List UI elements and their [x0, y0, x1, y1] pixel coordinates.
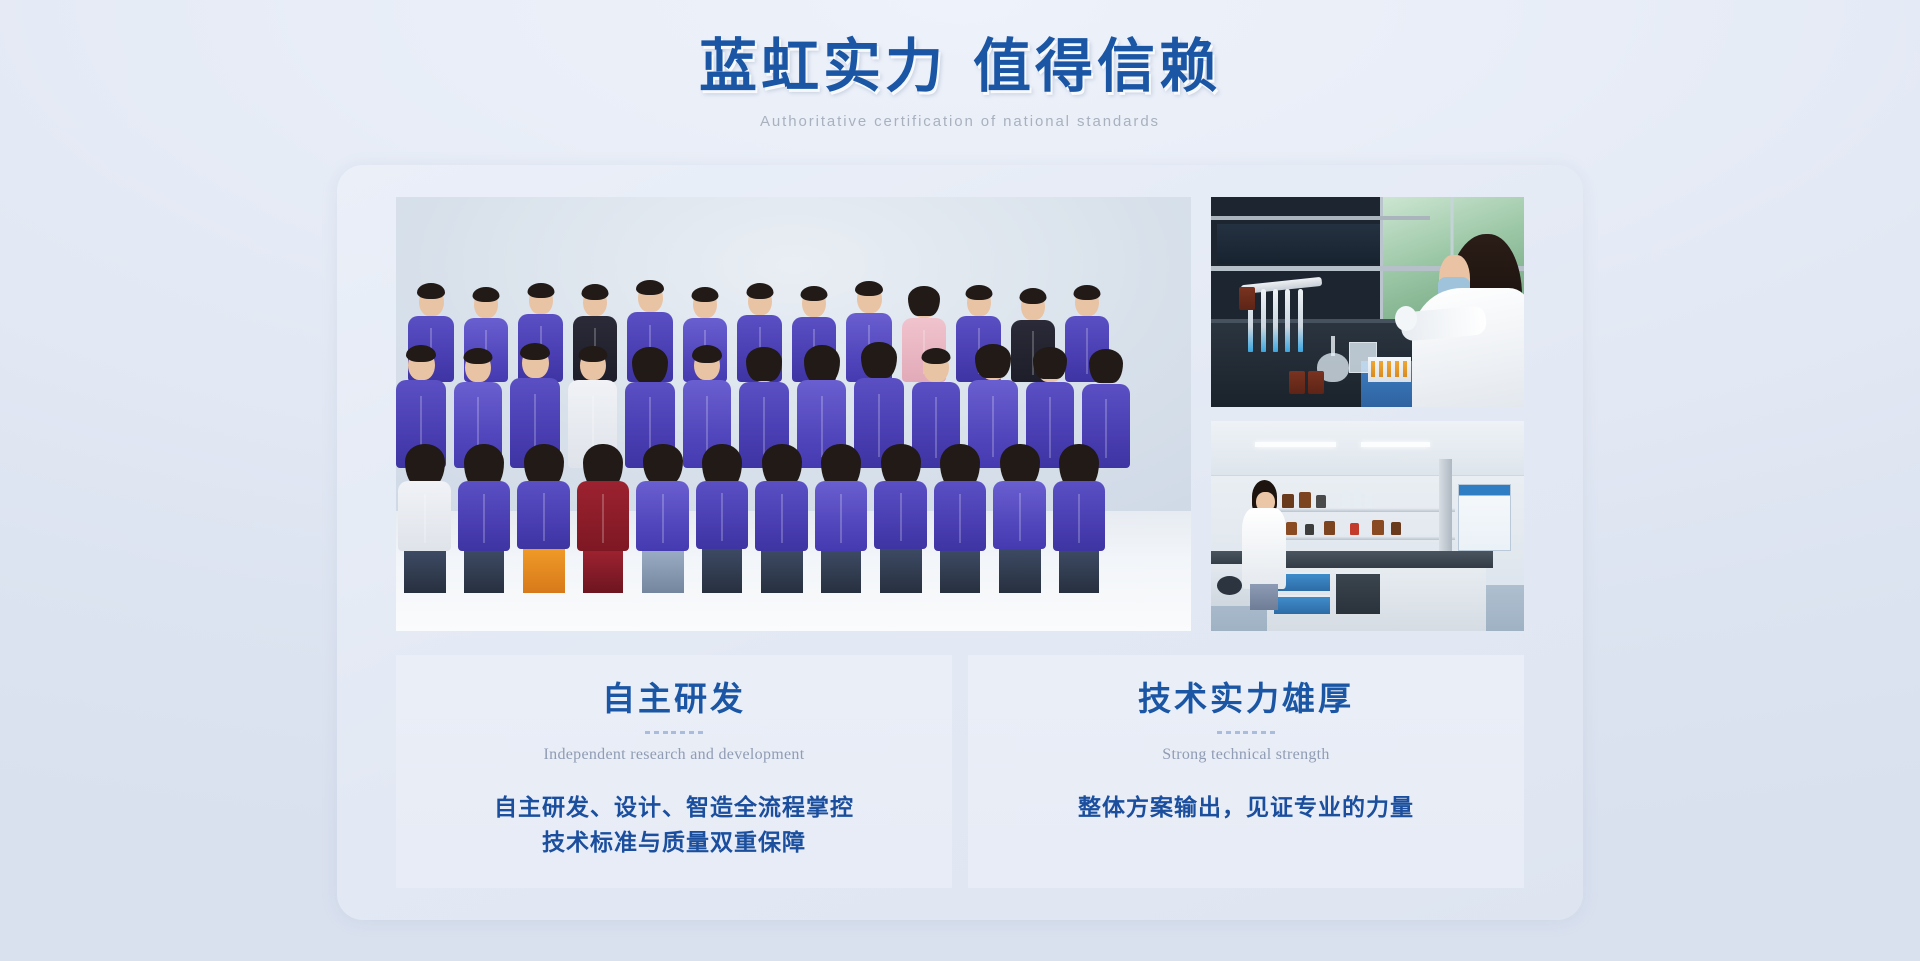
divider-dash	[654, 731, 659, 734]
card-subtitle: Independent research and development	[396, 746, 952, 764]
group-photo-illustration	[396, 197, 1191, 631]
person	[636, 449, 689, 593]
divider-dash	[1261, 731, 1266, 734]
person	[874, 449, 927, 593]
divider-dash	[698, 731, 703, 734]
reagent-bottle	[1299, 492, 1310, 508]
person	[934, 449, 986, 593]
page-header: 蓝虹实力值得信赖 Authoritative certification of …	[0, 34, 1920, 130]
pipette	[1273, 289, 1278, 352]
graduated-cylinder	[1342, 489, 1350, 508]
person	[755, 449, 808, 593]
reagent-bottle	[1305, 524, 1314, 535]
scientist-jeans	[1250, 584, 1278, 610]
page-title: 蓝虹实力值得信赖	[0, 34, 1920, 101]
card-description: 整体方案输出，见证专业的力量	[968, 790, 1524, 826]
pipette	[1285, 289, 1290, 352]
safety-poster	[1458, 484, 1511, 551]
person	[517, 449, 570, 593]
reagent-bottle	[1391, 522, 1400, 535]
reagent-bottle	[1316, 495, 1325, 508]
divider-dash	[645, 731, 650, 734]
reagent-shelf-unit	[1267, 484, 1455, 539]
reagent-bottle	[1289, 371, 1305, 394]
pipette	[1298, 289, 1303, 352]
feature-cards: 自主研发 Independent research and developmen…	[396, 655, 1524, 888]
team-group-photo	[396, 197, 1191, 631]
graduated-cylinder	[1354, 487, 1362, 508]
sample-vial	[1371, 361, 1375, 377]
ceiling-light	[1361, 442, 1430, 447]
sample-vial	[1379, 361, 1383, 377]
card-description-line2: 技术标准与质量双重保障	[396, 825, 952, 861]
card-description-line1: 自主研发、设计、智造全流程掌控	[396, 790, 952, 826]
feature-card-technical-strength[interactable]: 技术实力雄厚 Strong technical strength 整体方案输出，…	[968, 655, 1524, 888]
card-title: 自主研发	[396, 681, 952, 721]
island-bench-top	[1261, 551, 1493, 568]
upper-cabinet	[1217, 224, 1380, 264]
person	[993, 449, 1046, 593]
card-divider	[645, 731, 703, 734]
content-panel: 自主研发 Independent research and developmen…	[337, 165, 1583, 920]
card-divider	[1217, 731, 1275, 734]
laboratory-room-photo	[1211, 421, 1524, 631]
graduated-cylinder	[1365, 492, 1373, 508]
lab-technician-photo	[1211, 197, 1524, 407]
ceiling	[1211, 421, 1524, 476]
reagent-bottle	[1350, 523, 1359, 535]
media-grid	[396, 197, 1524, 631]
lab-technician	[1393, 226, 1524, 407]
reagent-bottle	[1324, 521, 1335, 535]
feature-card-independent-rnd[interactable]: 自主研发 Independent research and developmen…	[396, 655, 952, 888]
divider-dash	[1235, 731, 1240, 734]
fume-hood-post	[1439, 459, 1452, 564]
card-subtitle: Strong technical strength	[968, 746, 1524, 764]
lab-coat	[1242, 508, 1286, 589]
lab-scientist	[1242, 480, 1286, 610]
bench-cabinet	[1336, 572, 1380, 614]
page-subtitle: Authoritative certification of national …	[0, 113, 1920, 130]
lab-coat	[1412, 288, 1524, 407]
person	[398, 449, 451, 593]
divider-dash	[1226, 731, 1231, 734]
page-title-part2: 值得信赖	[973, 34, 1221, 99]
sample-vial	[1387, 361, 1391, 377]
divider-dash	[671, 731, 676, 734]
divider-dash	[689, 731, 694, 734]
group-row-front	[398, 449, 1188, 593]
divider-dash	[680, 731, 685, 734]
lab-bench-illustration	[1211, 197, 1524, 407]
person	[577, 449, 629, 593]
reagent-bottle	[1286, 522, 1297, 535]
person	[458, 449, 510, 593]
person	[696, 449, 748, 593]
page-root: 蓝虹实力值得信赖 Authoritative certification of …	[0, 0, 1920, 961]
pipette	[1261, 289, 1266, 352]
shelf-bar	[1267, 536, 1455, 540]
person	[1053, 449, 1105, 593]
divider-dash	[1217, 731, 1222, 734]
card-description-line1: 整体方案输出，见证专业的力量	[968, 790, 1524, 826]
divider-dash	[1243, 731, 1248, 734]
shelf-top	[1211, 216, 1430, 220]
shelf-bar	[1267, 508, 1455, 512]
reagent-bottle	[1239, 287, 1255, 310]
divider-dash	[1270, 731, 1275, 734]
divider-dash	[1252, 731, 1257, 734]
card-description: 自主研发、设计、智造全流程掌控 技术标准与质量双重保障	[396, 790, 952, 861]
pipette-rack	[1245, 289, 1314, 352]
person	[815, 449, 867, 593]
reagent-bottle	[1308, 371, 1324, 394]
page-title-part1: 蓝虹实力	[699, 34, 947, 99]
card-title: 技术实力雄厚	[968, 681, 1524, 721]
lab-room-illustration	[1211, 421, 1524, 631]
reagent-bottle	[1372, 520, 1383, 535]
ceiling-light	[1255, 442, 1336, 447]
divider-dash	[663, 731, 668, 734]
